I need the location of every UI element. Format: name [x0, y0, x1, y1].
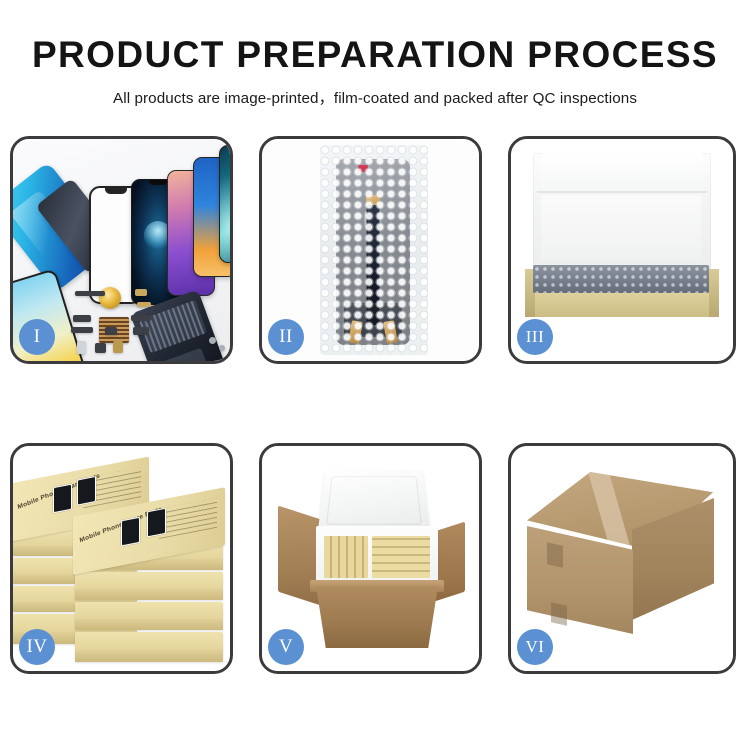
- screw-part: [219, 345, 225, 351]
- product-thumbnail: [147, 508, 166, 538]
- step-badge-1: I: [19, 319, 55, 355]
- spare-part: [131, 315, 151, 321]
- carton-marking-lower: [551, 602, 567, 625]
- bubble-texture: [320, 145, 428, 355]
- spare-part: [105, 327, 117, 335]
- step-badge-3: III: [517, 319, 553, 355]
- process-step-panel-3[interactable]: III: [508, 136, 736, 364]
- spare-part: [95, 343, 106, 353]
- white-foam-sheet: [541, 195, 701, 261]
- spare-part: [77, 341, 86, 354]
- step-badge-4: IV: [19, 629, 55, 665]
- carton-marking-upper: [547, 542, 563, 567]
- product-thumbnail: [77, 476, 96, 506]
- screw-part: [209, 337, 216, 344]
- spare-part: [71, 327, 93, 333]
- spare-part: [137, 302, 151, 307]
- spare-part: [75, 291, 105, 296]
- carton-body: [316, 586, 438, 648]
- bubble-wrap-bag: [320, 145, 428, 355]
- retail-box: [75, 632, 223, 662]
- step-badge-2: II: [268, 319, 304, 355]
- product-thumbnail: [53, 484, 72, 514]
- lid-top-flap: [541, 153, 703, 189]
- process-step-panel-6[interactable]: VI: [508, 443, 736, 674]
- product-thumbnail: [121, 517, 140, 547]
- step-badge-6: VI: [517, 629, 553, 665]
- spare-part: [133, 327, 149, 335]
- process-step-panel-1[interactable]: I: [10, 136, 233, 364]
- spec-text-lines: [159, 498, 217, 539]
- tray-lip-right: [709, 269, 719, 317]
- process-step-panel-5[interactable]: V: [259, 443, 482, 674]
- process-step-panel-4[interactable]: Mobile Phone Spare Parts Mobile Phone Sp…: [10, 443, 233, 674]
- retail-box: [75, 602, 223, 630]
- notch: [105, 188, 127, 194]
- notch: [149, 180, 167, 185]
- retail-box-stack-left: [324, 536, 368, 578]
- step-badge-5: V: [268, 629, 304, 665]
- lid-crease: [537, 191, 707, 193]
- process-step-panel-2[interactable]: II: [259, 136, 482, 364]
- phone-teal-swirl: [219, 145, 230, 263]
- process-step-grid: I II: [10, 136, 743, 674]
- grey-bubble-wrap-fill: [533, 265, 709, 293]
- spare-part: [135, 289, 147, 296]
- page-header: PRODUCT PREPARATION PROCESS All products…: [0, 0, 750, 108]
- foam-box-lid: [318, 471, 431, 533]
- spare-part: [113, 341, 123, 353]
- spare-part: [73, 315, 91, 322]
- page-title: PRODUCT PREPARATION PROCESS: [0, 36, 750, 75]
- retail-box: [75, 572, 223, 600]
- page-subtitle: All products are image-printed，film-coat…: [0, 86, 750, 108]
- retail-box-stack-right: [372, 536, 430, 578]
